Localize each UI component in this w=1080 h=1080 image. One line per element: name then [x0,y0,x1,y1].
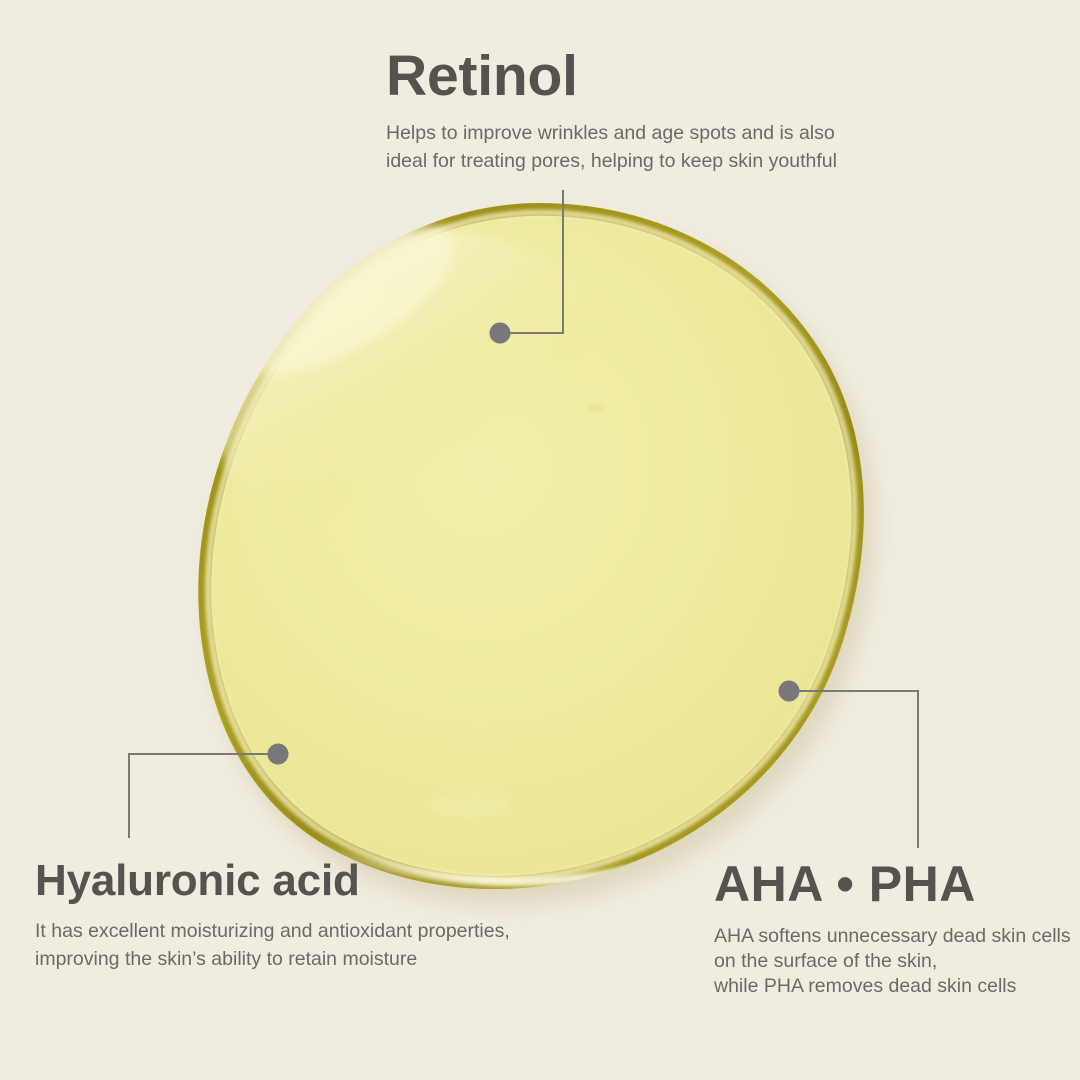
leader-line-ahapha [779,681,919,849]
infographic-canvas: Retinol Helps to improve wrinkles and ag… [0,0,1080,1080]
callout-hyaluronic-title: Hyaluronic acid [35,855,510,907]
callout-hyaluronic-body: It has excellent moisturizing and antiox… [35,917,510,973]
callout-retinol: Retinol Helps to improve wrinkles and ag… [386,44,837,175]
marker-dot-hyaluronic [268,744,289,765]
callout-retinol-body: Helps to improve wrinkles and age spots … [386,119,837,175]
callout-retinol-title: Retinol [386,44,837,108]
marker-dot-retinol [490,323,511,344]
leader-line-retinol [490,190,564,344]
callout-ahapha-title: AHA • PHA [714,855,1071,913]
callout-ahapha-body: AHA softens unnecessary dead skin cells … [714,924,1071,999]
marker-dot-ahapha [779,681,800,702]
callout-hyaluronic: Hyaluronic acid It has excellent moistur… [35,855,510,973]
leader-line-hyaluronic [129,744,289,839]
callout-ahapha: AHA • PHA AHA softens unnecessary dead s… [714,855,1071,999]
